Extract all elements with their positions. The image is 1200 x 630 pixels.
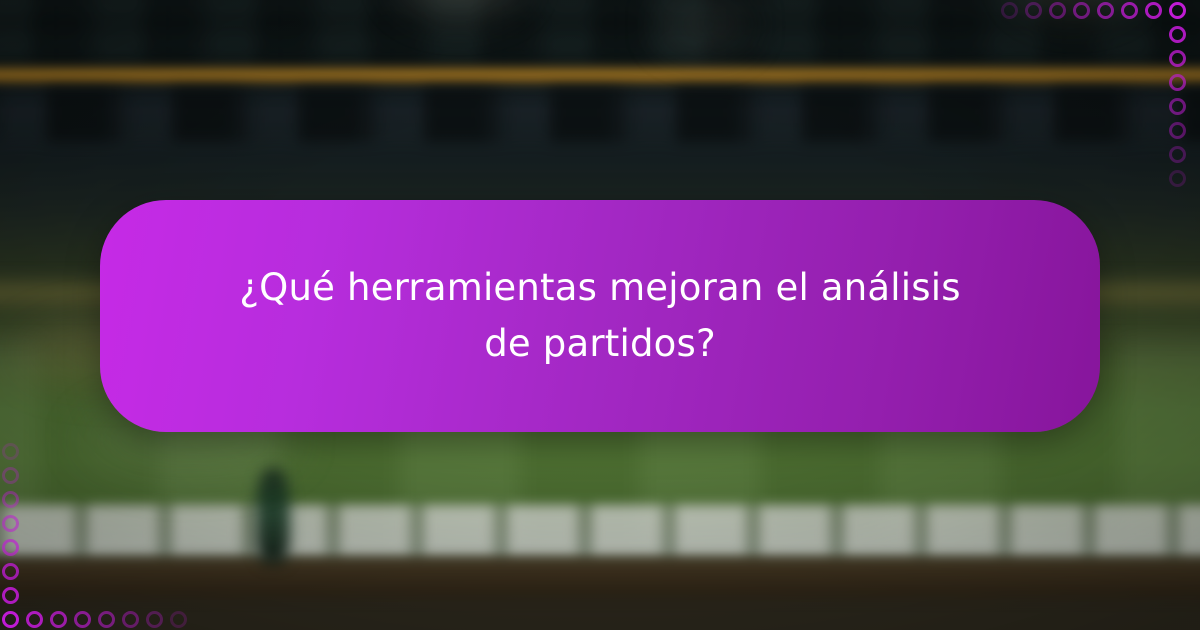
question-card: ¿Qué herramientas mejoran el análisis de… <box>100 200 1100 432</box>
slide-canvas: ¿Qué herramientas mejoran el análisis de… <box>0 0 1200 630</box>
question-text: ¿Qué herramientas mejoran el análisis de… <box>220 260 980 372</box>
